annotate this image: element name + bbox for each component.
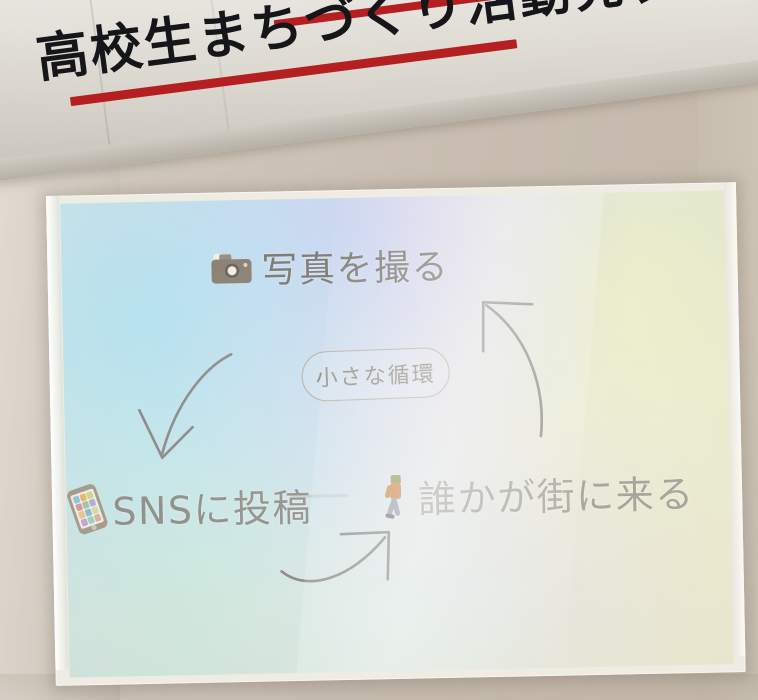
projected-slide: 写真を撮る 小さな循環 SNSに投稿 — [60, 190, 733, 677]
arrow-sns-to-visitor-icon — [277, 527, 408, 600]
arrow-visitor-to-photo-icon — [474, 289, 587, 441]
camera-icon — [211, 253, 252, 284]
walking-person-icon — [382, 474, 409, 519]
cycle-pill-label: 小さな循環 — [315, 356, 436, 392]
node-post-sns: SNSに投稿 — [72, 477, 313, 537]
projection-smudge — [290, 494, 348, 498]
node-post-sns-label: SNSに投稿 — [112, 477, 313, 536]
node-visitor-comes: 誰かが街に来る — [382, 463, 696, 524]
node-take-photo: 写真を撮る — [211, 238, 450, 295]
node-visitor-comes-label: 誰かが街に来る — [418, 463, 696, 524]
photograph: 第3回「未来のまちをつくる高校生」 高校生まちづくり活動発表会 写真を撮る — [0, 0, 758, 700]
projection-screen: 写真を撮る 小さな循環 SNSに投稿 — [46, 182, 746, 686]
smartphone-icon — [66, 482, 109, 535]
cycle-pill: 小さな循環 — [301, 347, 451, 403]
arrow-photo-to-sns-icon — [135, 348, 247, 470]
node-take-photo-label: 写真を撮る — [261, 238, 450, 294]
